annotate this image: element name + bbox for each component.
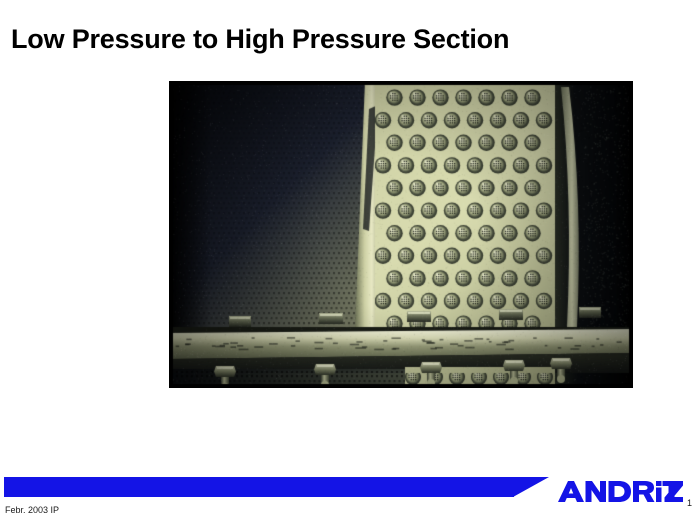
footer-bar-body bbox=[4, 477, 514, 497]
andritz-logo bbox=[557, 479, 683, 505]
screen-basket-photo bbox=[169, 81, 633, 388]
andritz-wordmark-icon bbox=[557, 479, 683, 505]
footer-accent-bar bbox=[4, 477, 549, 497]
footer-date-label: Febr. 2003 IP bbox=[5, 505, 59, 515]
slide-number: 1 bbox=[687, 498, 692, 508]
footer-bar-angled-tip bbox=[513, 477, 549, 497]
page-title: Low Pressure to High Pressure Section bbox=[11, 24, 509, 55]
photo-image bbox=[169, 81, 633, 388]
